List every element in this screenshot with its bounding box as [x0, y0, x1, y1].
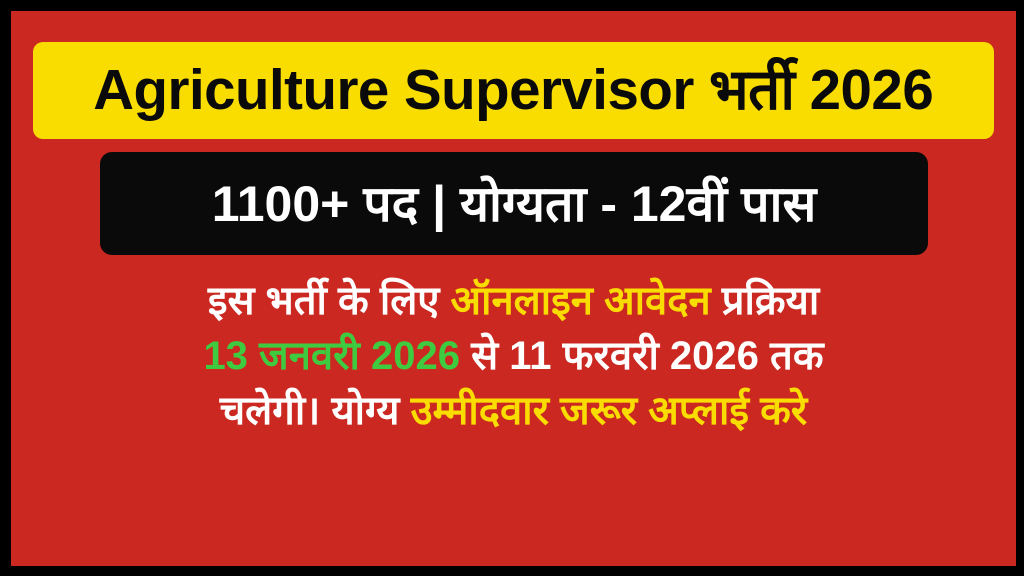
body-line-3-part-1: चलेगी। योग्य: [220, 389, 411, 433]
body-line-1: इस भर्ती के लिए ऑनलाइन आवेदन प्रक्रिया: [208, 279, 819, 324]
body-line-2-part-2: से 11 फरवरी 2026 तक: [460, 334, 824, 378]
page-title: Agriculture Supervisor भर्ती 2026: [94, 62, 934, 119]
body-line-3: चलेगी। योग्य उम्मीदवार जरूर अप्लाई करे: [220, 389, 807, 434]
subtitle-banner: 1100+ पद | योग्यता - 12वीं पास: [100, 152, 928, 255]
poster-graphic: Agriculture Supervisor भर्ती 2026 1100+ …: [0, 0, 1024, 576]
body-line-1-highlight: ऑनलाइन आवेदन: [451, 279, 711, 323]
body-line-3-highlight: उम्मीदवार जरूर अप्लाई करे: [411, 389, 808, 433]
body-line-2-highlight-date: 13 जनवरी 2026: [203, 334, 460, 378]
title-banner: Agriculture Supervisor भर्ती 2026: [33, 42, 994, 139]
body-line-2: 13 जनवरी 2026 से 11 फरवरी 2026 तक: [203, 334, 823, 379]
red-card-background: Agriculture Supervisor भर्ती 2026 1100+ …: [11, 11, 1016, 566]
body-line-1-part-3: प्रक्रिया: [711, 279, 820, 323]
subtitle-text: 1100+ पद | योग्यता - 12वीं पास: [212, 179, 817, 229]
body-paragraph: इस भर्ती के लिए ऑनलाइन आवेदन प्रक्रिया 1…: [22, 279, 1005, 433]
body-line-1-part-1: इस भर्ती के लिए: [208, 279, 451, 323]
